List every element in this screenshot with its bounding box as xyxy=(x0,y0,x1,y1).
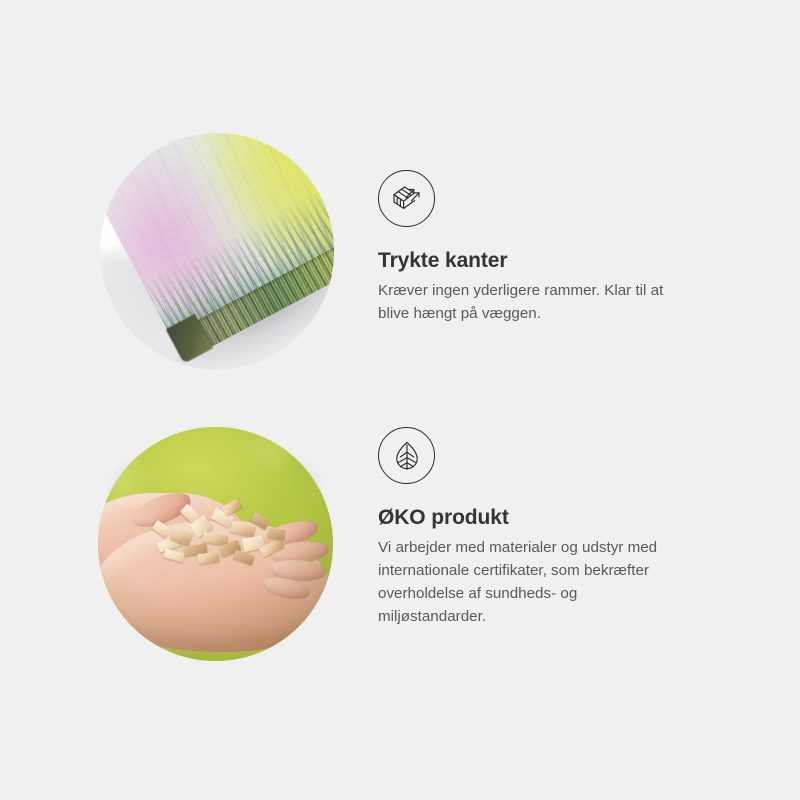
photo-vignette xyxy=(98,427,333,661)
feature-row-eco-product: ØKO produkt Vi arbejder med materialer o… xyxy=(0,427,800,663)
feature-text-printed-edges: Trykte kanter Kræver ingen yderligere ra… xyxy=(378,170,768,326)
wrapped-canvas-print-photo xyxy=(100,133,334,370)
eco-photo-scene xyxy=(98,427,333,661)
feature-description: Kræver ingen yderligere rammer. Klar til… xyxy=(378,280,750,326)
product-feature-list: Trykte kanter Kræver ingen yderligere ra… xyxy=(0,0,800,800)
canvas-photo-scene xyxy=(100,133,334,370)
feature-text-eco-product: ØKO produkt Vi arbejder med materialer o… xyxy=(378,427,768,628)
canvas-wrapped-edge-icon xyxy=(378,170,435,227)
feature-title: ØKO produkt xyxy=(378,506,768,530)
feature-title: Trykte kanter xyxy=(378,249,768,273)
leaf-icon xyxy=(378,427,435,484)
hands-holding-wood-chips-photo xyxy=(98,427,333,661)
feature-row-printed-edges: Trykte kanter Kræver ingen yderligere ra… xyxy=(0,133,800,373)
feature-description: Vi arbejder med materialer og udstyr med… xyxy=(378,537,750,628)
